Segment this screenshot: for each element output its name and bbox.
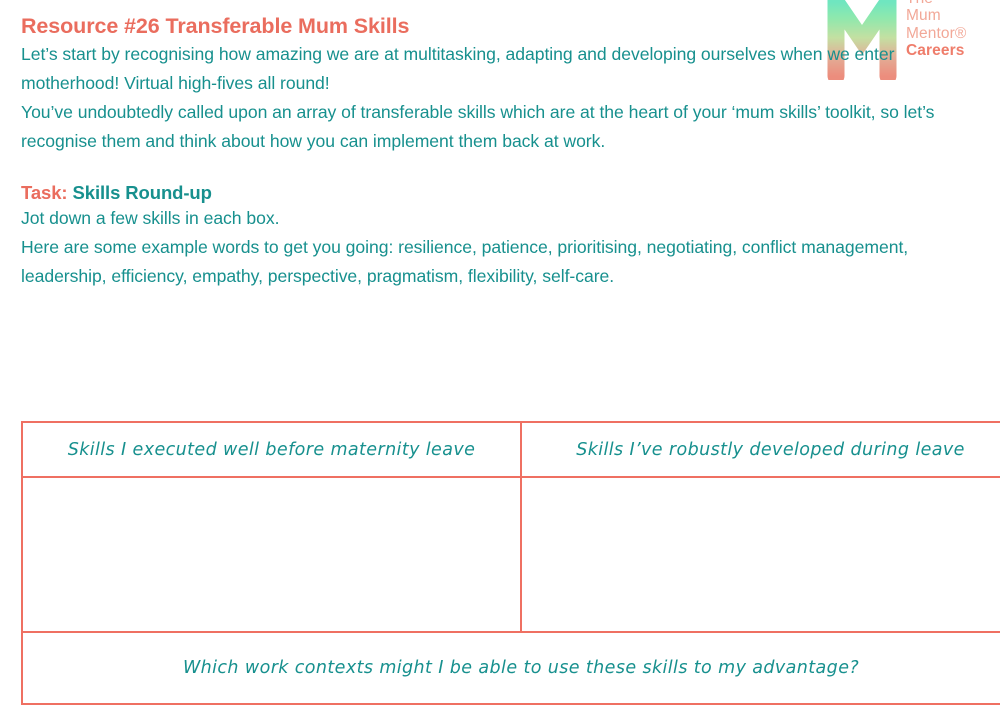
answer-box-during-leave[interactable]	[521, 477, 1000, 632]
footer-prompt-label: Which work contexts might I be able to u…	[23, 658, 1000, 678]
paragraph-transferable-skills: You’ve undoubtedly called upon an array …	[21, 98, 979, 156]
table-header-cell-before-leave: Skills I executed well before maternity …	[22, 422, 521, 477]
worksheet-page: The Mum Mentor® Careers Resource #26 Tra…	[0, 0, 1000, 686]
table-header-cell-during-leave: Skills I’ve robustly developed during le…	[521, 422, 1000, 477]
table-header-label-before-leave: Skills I executed well before maternity …	[23, 440, 520, 460]
paragraph-examples: Here are some example words to get you g…	[21, 233, 979, 291]
paragraph-instruction: Jot down a few skills in each box.	[21, 204, 979, 233]
table-header-label-during-leave: Skills I’ve robustly developed during le…	[522, 440, 1000, 460]
table-answer-row	[22, 477, 1000, 632]
task-label: Task:	[21, 182, 67, 203]
answer-box-before-leave[interactable]	[22, 477, 521, 632]
page-title: Resource #26 Transferable Mum Skills	[21, 0, 979, 40]
task-name: Skills Round-up	[73, 182, 212, 203]
content-column: Resource #26 Transferable Mum Skills Let…	[21, 0, 979, 291]
table-footer-row: Which work contexts might I be able to u…	[22, 632, 1000, 704]
table-header-row: Skills I executed well before maternity …	[22, 422, 1000, 477]
skills-roundup-table: Skills I executed well before maternity …	[21, 421, 1000, 705]
footer-prompt-cell[interactable]: Which work contexts might I be able to u…	[22, 632, 1000, 704]
task-heading: Task: Skills Round-up	[21, 157, 979, 204]
paragraph-intro: Let’s start by recognising how amazing w…	[21, 40, 979, 98]
